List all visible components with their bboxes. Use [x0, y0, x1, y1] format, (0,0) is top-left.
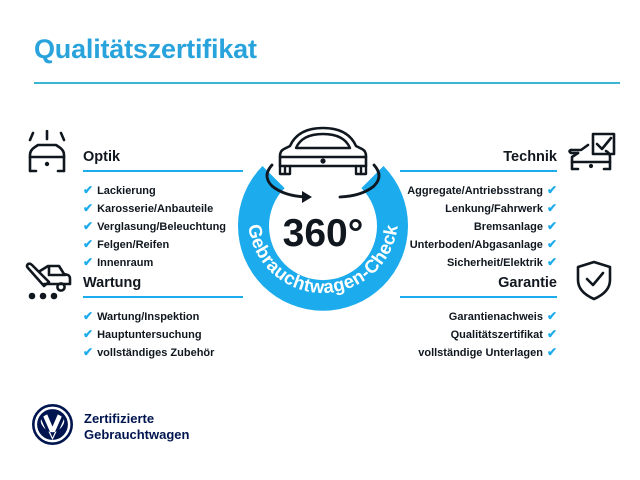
check-icon: ✔	[547, 183, 557, 197]
check-icon: ✔	[83, 255, 93, 269]
list-item: Lenkung/Fahrwerk✔	[400, 200, 557, 218]
list-item-label: Bremsanlage	[474, 221, 543, 233]
check-icon: ✔	[83, 183, 93, 197]
footer-brand: Zertifizierte Gebrauchtwagen	[32, 404, 189, 450]
car-shine-icon	[22, 130, 74, 181]
list-item-label: vollständige Unterlagen	[418, 347, 543, 359]
section-underline	[400, 170, 557, 172]
certificate-page: Qualitätszertifikat Optik ✔Lackierung	[0, 0, 640, 480]
check-icon: ✔	[547, 219, 557, 233]
checklist-technik: Aggregate/Antriebsstrang✔ Lenkung/Fahrwe…	[400, 182, 557, 272]
section-title-technik: Technik	[503, 149, 557, 165]
section-garantie: Garantie Garantienachweis✔ Qualitätszert…	[400, 268, 557, 362]
section-header: Wartung	[83, 268, 243, 294]
checklist-garantie: Garantienachweis✔ Qualitätszertifikat✔ v…	[400, 308, 557, 362]
shield-check-icon	[572, 259, 616, 308]
list-item-label: Unterboden/Abgasanlage	[410, 239, 543, 251]
check-icon: ✔	[547, 345, 557, 359]
check-icon: ✔	[83, 219, 93, 233]
section-header: Technik	[400, 142, 557, 168]
list-item: ✔Verglasung/Beleuchtung	[83, 218, 243, 236]
check-icon: ✔	[83, 237, 93, 251]
list-item-label: Wartung/Inspektion	[97, 311, 199, 323]
badge-360-gebrauchtwagen-check: Gebrauchtwagen-Check 360°	[228, 118, 418, 318]
list-item: ✔vollständiges Zubehör	[83, 344, 243, 362]
list-item: ✔Hauptuntersuchung	[83, 326, 243, 344]
checklist-wartung: ✔Wartung/Inspektion ✔Hauptuntersuchung ✔…	[83, 308, 243, 362]
rotate-arrow-icon	[302, 191, 312, 203]
list-item: ✔Karosserie/Anbauteile	[83, 200, 243, 218]
car-checkbox-icon	[566, 131, 618, 180]
checklist-optik: ✔Lackierung ✔Karosserie/Anbauteile ✔Verg…	[83, 182, 243, 272]
header-divider	[34, 82, 620, 84]
section-underline	[83, 170, 243, 172]
section-header: Garantie	[400, 268, 557, 294]
section-title-optik: Optik	[83, 149, 120, 165]
list-item: vollständige Unterlagen✔	[400, 344, 557, 362]
list-item-label: Hauptuntersuchung	[97, 329, 202, 341]
list-item: Qualitätszertifikat✔	[400, 326, 557, 344]
badge-center-label: 360°	[283, 212, 364, 255]
list-item: Bremsanlage✔	[400, 218, 557, 236]
list-item: ✔Lackierung	[83, 182, 243, 200]
check-icon: ✔	[83, 201, 93, 215]
section-wartung: Wartung ✔Wartung/Inspektion ✔Hauptunters…	[83, 268, 243, 362]
check-icon: ✔	[83, 309, 93, 323]
list-item-label: Verglasung/Beleuchtung	[97, 221, 226, 233]
list-item-label: Lackierung	[97, 185, 156, 197]
check-icon: ✔	[547, 327, 557, 341]
car-rotate-360-icon	[267, 128, 379, 203]
section-underline	[83, 296, 243, 298]
list-item: Garantienachweis✔	[400, 308, 557, 326]
section-underline	[400, 296, 557, 298]
section-title-garantie: Garantie	[498, 275, 557, 291]
list-item-label: Felgen/Reifen	[97, 239, 169, 251]
list-item: ✔Wartung/Inspektion	[83, 308, 243, 326]
vw-logo-icon	[32, 404, 73, 450]
list-item: Unterboden/Abgasanlage✔	[400, 236, 557, 254]
list-item-label: vollständiges Zubehör	[97, 347, 214, 359]
list-item-label: Karosserie/Anbauteile	[97, 203, 213, 215]
footer-brand-label: Zertifizierte Gebrauchtwagen	[84, 411, 189, 443]
section-title-wartung: Wartung	[83, 275, 141, 291]
section-optik: Optik ✔Lackierung ✔Karosserie/Anbauteile…	[83, 142, 243, 272]
list-item-label: Aggregate/Antriebsstrang	[407, 185, 543, 197]
list-item: Aggregate/Antriebsstrang✔	[400, 182, 557, 200]
list-item-label: Qualitätszertifikat	[451, 329, 543, 341]
check-icon: ✔	[83, 327, 93, 341]
list-item: ✔Felgen/Reifen	[83, 236, 243, 254]
list-item-label: Lenkung/Fahrwerk	[445, 203, 543, 215]
check-icon: ✔	[547, 237, 557, 251]
check-icon: ✔	[547, 201, 557, 215]
check-icon: ✔	[83, 345, 93, 359]
list-item-label: Garantienachweis	[449, 311, 543, 323]
check-icon: ✔	[547, 255, 557, 269]
section-header: Optik	[83, 142, 243, 168]
check-icon: ✔	[547, 309, 557, 323]
page-title: Qualitätszertifikat	[34, 34, 257, 65]
wrench-car-service-icon	[22, 257, 74, 310]
section-technik: Technik Aggregate/Antriebsstrang✔ Lenkun…	[400, 142, 557, 272]
